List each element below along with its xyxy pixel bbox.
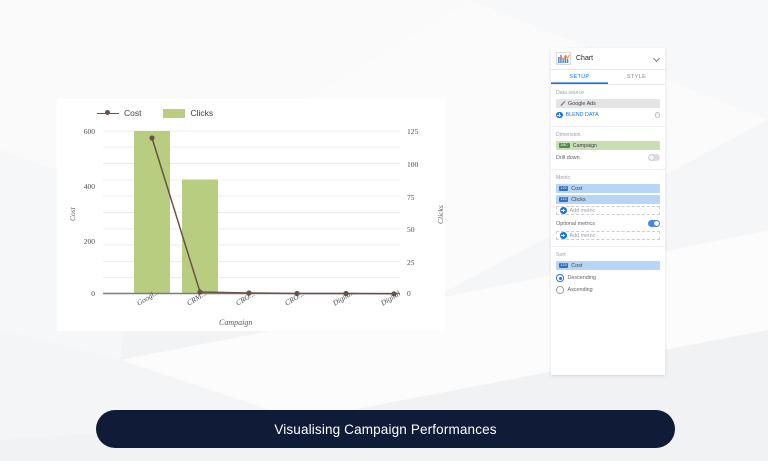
drill-down-row: Drill down — [556, 152, 660, 163]
data-source-chip[interactable]: Google Ads — [556, 99, 660, 108]
panel-header: Chart — [551, 48, 665, 70]
drill-down-toggle[interactable] — [648, 154, 660, 161]
caption-text: Visualising Campaign Performances — [274, 422, 496, 437]
drill-down-label: Drill down — [556, 155, 580, 161]
section-data-source: Data source Google Ads BLEND DATA ? — [551, 85, 665, 127]
plot-area: 600 400 200 0 125 100 75 50 25 0 Cost Cl… — [57, 99, 445, 331]
panel-title: Chart — [576, 55, 648, 62]
sort-chip-name: Cost — [571, 263, 582, 269]
sort-label: Sort — [556, 252, 660, 258]
metric-label: Metric — [556, 175, 660, 181]
add-metric-label: Add metric — [570, 208, 596, 214]
bar-chart-icon-svg — [558, 54, 570, 63]
tab-style[interactable]: STYLE — [608, 70, 665, 84]
plus-circle-icon — [560, 232, 567, 239]
y-tick-right-25: 25 — [407, 258, 441, 267]
blend-data-label: BLEND DATA — [566, 112, 599, 118]
type-badge-text: ABC — [559, 143, 570, 149]
data-source-name: Google Ads — [568, 101, 596, 107]
sort-chip-cost[interactable]: 123 Cost — [556, 261, 660, 270]
y-tick-left-200: 200 — [61, 237, 95, 246]
radio-unselected-icon — [556, 286, 564, 294]
add-optional-metric-label: Add metric — [570, 233, 596, 239]
metric-chip-clicks[interactable]: 123 Clicks — [556, 195, 660, 204]
sort-option-ascending[interactable]: Ascending — [556, 284, 660, 296]
blend-data-button[interactable]: BLEND DATA ? — [556, 110, 660, 120]
bar-chart-icon — [556, 52, 571, 65]
metric-chip-cost[interactable]: 123 Cost — [556, 184, 660, 193]
add-metric-button[interactable]: Add metric — [556, 206, 660, 215]
y-tick-left-0: 0 — [61, 289, 95, 298]
info-icon[interactable]: ? — [655, 112, 661, 118]
tab-setup[interactable]: SETUP — [551, 70, 608, 84]
add-optional-metric-button[interactable]: Add metric — [556, 231, 660, 240]
radio-selected-icon — [556, 274, 564, 282]
caption-banner: Visualising Campaign Performances — [96, 410, 675, 448]
metric-chip-name-cost: Cost — [571, 186, 582, 192]
type-badge-number: 123 — [559, 186, 568, 192]
section-sort: Sort 123 Cost Descending Ascending — [551, 247, 665, 302]
optional-metrics-label: Optional metrics — [556, 221, 595, 227]
y-tick-right-0: 0 — [407, 289, 441, 298]
section-dimension: Dimension ABC Campaign Drill down — [551, 127, 665, 170]
optional-metrics-toggle[interactable] — [648, 220, 660, 227]
data-source-label: Data source — [556, 90, 660, 96]
pencil-icon — [559, 101, 565, 107]
metric-chip-name-clicks: Clicks — [571, 197, 585, 203]
section-metric: Metric 123 Cost 123 Clicks Add metric Op… — [551, 170, 665, 247]
chevron-down-icon[interactable] — [653, 55, 660, 62]
y-axis-title-clicks: Clicks — [436, 205, 445, 224]
type-badge-number: 123 — [559, 197, 568, 203]
x-axis-title-campaign: Campaign — [219, 318, 252, 327]
y-tick-right-75: 75 — [407, 193, 441, 202]
y-tick-left-600: 600 — [61, 127, 95, 136]
y-tick-right-100: 100 — [407, 160, 441, 169]
y-tick-right-50: 50 — [407, 225, 441, 234]
plus-circle-icon — [556, 112, 563, 119]
dimension-chip-name: Campaign — [573, 143, 598, 149]
sort-option-ascending-label: Ascending — [568, 287, 593, 293]
plus-circle-icon — [560, 207, 567, 214]
sort-option-descending-label: Descending — [568, 275, 596, 281]
y-axis-title-cost: Cost — [68, 207, 77, 221]
panel-tabs: SETUP STYLE — [551, 70, 665, 85]
dimension-label: Dimension — [556, 132, 660, 138]
dimension-chip-campaign[interactable]: ABC Campaign — [556, 141, 660, 150]
y-tick-right-125: 125 — [407, 127, 441, 136]
sort-option-descending[interactable]: Descending — [556, 272, 660, 284]
type-badge-number: 123 — [559, 263, 568, 269]
optional-metrics-row: Optional metrics — [556, 218, 660, 229]
chart-card: Cost Clicks — [57, 99, 445, 331]
slide-canvas: Cost Clicks — [0, 0, 768, 461]
chart-config-panel: Chart SETUP STYLE Data source Google Ads… — [551, 48, 665, 375]
y-tick-left-400: 400 — [61, 182, 95, 191]
